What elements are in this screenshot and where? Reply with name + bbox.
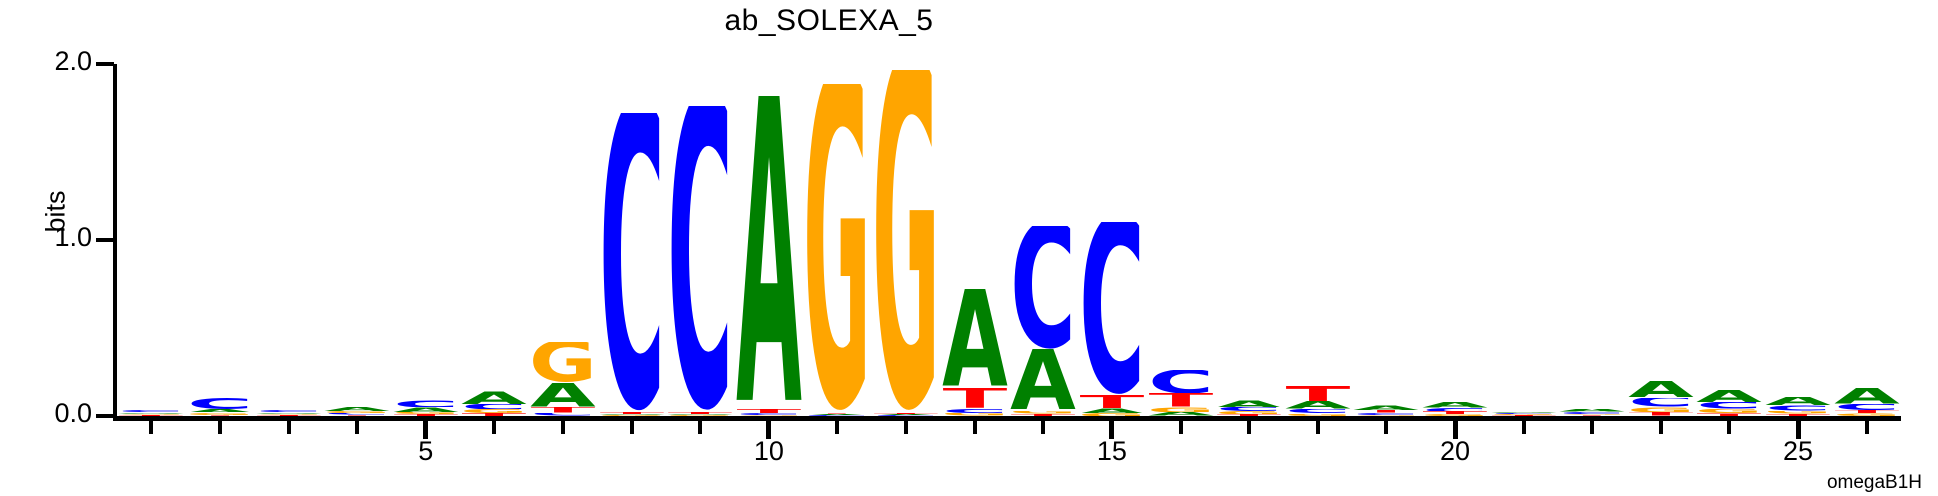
x-axis-tick xyxy=(561,421,565,434)
x-axis-tick xyxy=(973,421,977,434)
x-axis-tick xyxy=(1865,421,1869,434)
logo-letter-glyph: A xyxy=(1697,390,1763,402)
logo-letter-A: A xyxy=(735,96,804,409)
logo-stack: TACG xyxy=(1283,64,1352,416)
logo-letter-C: C xyxy=(186,398,255,409)
logo-letter-glyph: C xyxy=(1628,398,1694,408)
logo-letter-A: A xyxy=(1283,401,1352,409)
x-axis-tick xyxy=(1316,421,1320,434)
x-axis-line xyxy=(113,416,1901,421)
logo-letter-C: C xyxy=(1146,370,1215,393)
logo-letter-A: A xyxy=(529,383,598,408)
y-axis-tick xyxy=(96,62,114,66)
figure-credit: omegaB1H xyxy=(1827,472,1922,494)
x-axis-tick xyxy=(1179,421,1183,434)
x-axis-tick xyxy=(287,421,291,434)
logo-stack: ACTG xyxy=(1421,64,1490,416)
x-axis-tick xyxy=(1590,421,1594,434)
logo-stack: ATCG xyxy=(1352,64,1421,416)
x-axis-tick xyxy=(149,421,153,434)
x-axis-tick-label: 10 xyxy=(754,436,784,467)
logo-letter-glyph: T xyxy=(1148,393,1213,407)
logo-letter-C: C xyxy=(1695,402,1764,409)
logo-letter-A: A xyxy=(1695,390,1764,402)
logo-letter-C: C xyxy=(597,113,666,412)
x-axis-tick xyxy=(835,421,839,434)
logo-letter-A: A xyxy=(1215,400,1284,407)
logo-letter-glyph: C xyxy=(1697,402,1763,409)
logo-letter-glyph: A xyxy=(1628,381,1694,398)
logo-stack-area: CAGTCAGTCAGTAGCTCAGTACGTGATCCTAGCTAGATCG… xyxy=(117,64,1901,416)
y-axis-tick xyxy=(96,414,114,418)
logo-letter-A: A xyxy=(1627,381,1696,398)
logo-stack: ACGT xyxy=(1627,64,1696,416)
logo-stack: ACGT xyxy=(1489,64,1558,416)
x-axis-tick xyxy=(1727,421,1731,434)
x-axis-tick xyxy=(1041,421,1045,434)
logo-letter-glyph: C xyxy=(393,400,459,407)
logo-letter-glyph: C xyxy=(667,106,733,412)
logo-stack: ACTG xyxy=(1832,64,1901,416)
logo-letter-T: T xyxy=(1146,393,1215,407)
logo-stack: ATCG xyxy=(940,64,1009,416)
logo-stack: ACGT xyxy=(1215,64,1284,416)
logo-letter-A: A xyxy=(940,289,1009,388)
logo-letter-C: C xyxy=(1009,226,1078,349)
y-axis-label: bits xyxy=(41,152,72,272)
logo-letter-glyph: C xyxy=(1079,222,1145,394)
logo-letter-C: C xyxy=(1627,398,1696,408)
logo-letter-glyph: C xyxy=(1010,226,1076,349)
logo-letter-C: C xyxy=(1078,222,1147,394)
logo-stack: CAGT xyxy=(186,64,255,416)
logo-letter-G: G xyxy=(803,84,872,413)
logo-letter-glyph: A xyxy=(1285,401,1351,409)
logo-stack: CAGT xyxy=(117,64,186,416)
x-axis-tick xyxy=(355,421,359,434)
logo-letter-A: A xyxy=(1832,388,1901,404)
logo-letter-glyph: C xyxy=(187,398,253,409)
logo-letter-A: A xyxy=(1764,397,1833,406)
logo-letter-A: A xyxy=(1009,349,1078,411)
logo-stack: CAGT xyxy=(254,64,323,416)
x-axis-tick-label: 5 xyxy=(418,436,433,467)
logo-letter-glyph: A xyxy=(1765,397,1831,406)
logo-letter-C: C xyxy=(391,400,460,407)
logo-letter-glyph: G xyxy=(529,342,597,382)
logo-letter-glyph: G xyxy=(803,84,871,413)
y-axis-tick-label: 0.0 xyxy=(54,398,92,429)
x-axis-tick xyxy=(630,421,634,434)
logo-letter-glyph: A xyxy=(1834,388,1900,404)
logo-stack: CAGT xyxy=(1009,64,1078,416)
logo-stack: CTAG xyxy=(666,64,735,416)
logo-letter-T: T xyxy=(1283,386,1352,401)
y-axis-tick xyxy=(96,238,114,242)
logo-stack: ACGT xyxy=(460,64,529,416)
x-axis-tick xyxy=(904,421,908,434)
x-axis-tick xyxy=(1659,421,1663,434)
x-axis-tick xyxy=(1522,421,1526,434)
logo-letter-glyph: C xyxy=(599,113,665,412)
x-axis-tick xyxy=(492,421,496,434)
logo-letter-T: T xyxy=(940,388,1009,409)
logo-stack: GTAC xyxy=(872,64,941,416)
logo-letter-glyph: T xyxy=(1080,395,1145,408)
logo-letter-glyph: A xyxy=(1216,400,1282,407)
logo-stack: GATC xyxy=(529,64,598,416)
logo-stack: ACGT xyxy=(1695,64,1764,416)
logo-letter-glyph: T xyxy=(1285,386,1350,401)
logo-stack: ACGT xyxy=(1558,64,1627,416)
logo-letter-C: C xyxy=(666,106,735,412)
x-axis-tick-label: 15 xyxy=(1097,436,1127,467)
logo-letter-G: G xyxy=(872,70,941,413)
x-axis-tick-label: 25 xyxy=(1783,436,1813,467)
logo-letter-glyph: A xyxy=(1010,349,1076,411)
x-axis-tick xyxy=(698,421,702,434)
logo-letter-A: A xyxy=(460,391,529,403)
sequence-logo-figure: ab_SOLEXA_5 bits 2.01.00.0 CAGTCAGTCAGTA… xyxy=(0,0,1938,496)
logo-letter-glyph: T xyxy=(942,388,1007,409)
y-axis-tick-label: 1.0 xyxy=(54,222,92,253)
logo-stack: CAGT xyxy=(391,64,460,416)
logo-letter-T: T xyxy=(1078,395,1147,408)
y-axis-tick-label: 2.0 xyxy=(54,46,92,77)
logo-letter-glyph: G xyxy=(872,70,940,413)
logo-letter-glyph: A xyxy=(942,289,1008,388)
x-axis-tick-label: 20 xyxy=(1440,436,1470,467)
logo-stack: ACGT xyxy=(1764,64,1833,416)
x-axis-tick xyxy=(218,421,222,434)
x-axis-tick xyxy=(1247,421,1251,434)
x-axis-tick xyxy=(1384,421,1388,434)
logo-stack: CTGA xyxy=(1146,64,1215,416)
logo-stack: CTAG xyxy=(597,64,666,416)
logo-stack: CTAG xyxy=(1078,64,1147,416)
logo-stack: AGCT xyxy=(323,64,392,416)
logo-letter-glyph: A xyxy=(462,391,528,403)
logo-letter-glyph: A xyxy=(736,96,802,409)
logo-stack: GTAC xyxy=(803,64,872,416)
page-title: ab_SOLEXA_5 xyxy=(0,4,1798,38)
logo-letter-G: G xyxy=(529,342,598,382)
logo-stack: ATCG xyxy=(735,64,804,416)
logo-letter-glyph: C xyxy=(1148,370,1214,393)
logo-letter-glyph: A xyxy=(530,383,596,408)
